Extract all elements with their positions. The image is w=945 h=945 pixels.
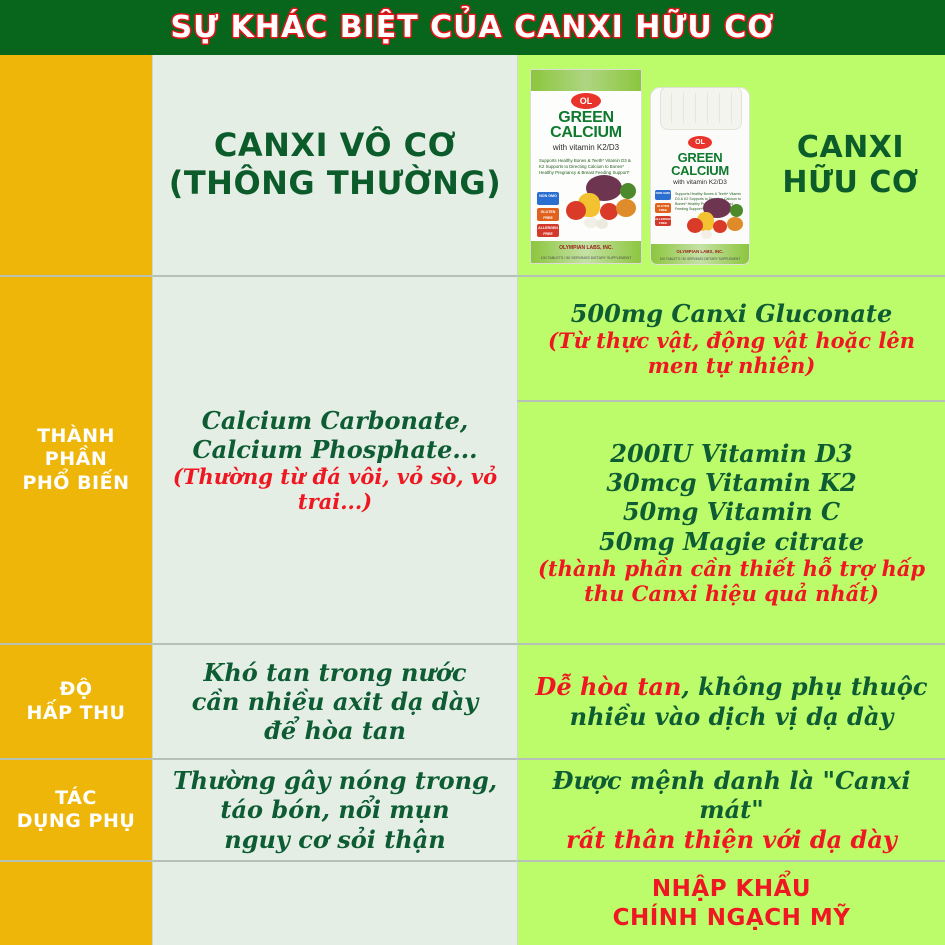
row-label-ingredients: THÀNH PHẦN PHỔ BIẾN: [0, 275, 152, 643]
cell-organic-vitamins-text: 200IU Vitamin D3 30mcg Vitamin K2 50mg V…: [518, 439, 945, 606]
product-photo: OL GREEN CALCIUM with vitamin K2/D3 Supp…: [518, 59, 756, 271]
inorganic-ingredient-line1: Calcium Carbonate,: [161, 406, 509, 435]
product-bottle: OL GREEN CALCIUM with vitamin K2/D3 Supp…: [650, 87, 750, 265]
inorganic-ingredient-note: (Thường từ đá vôi, vỏ sò, vỏ trai...): [161, 464, 509, 514]
row-label-ingredients-text: THÀNH PHẦN PHỔ BIẾN: [0, 425, 152, 495]
organic-side-effects-line2: rất thân thiện với dạ dày: [526, 825, 937, 854]
organic-vitamin-line4: 50mg Magie citrate: [526, 527, 937, 556]
bottle-vegetables-illustration: [685, 198, 747, 242]
comparison-table: CANXI VÔ CƠ (THÔNG THƯỜNG) OL GREEN CALC…: [0, 55, 945, 945]
cell-organic-absorption: Dễ hòa tan, không phụ thuộc nhiều vào dị…: [517, 643, 945, 758]
row-label-absorption: ĐỘ HẤP THU: [0, 643, 152, 758]
organic-side-effects-line1: Được mệnh danh là "Canxi mát": [526, 766, 937, 825]
header-organic-cell: OL GREEN CALCIUM with vitamin K2/D3 Supp…: [517, 55, 945, 275]
cell-organic-absorption-text: Dễ hòa tan, không phụ thuộc nhiều vào dị…: [518, 672, 945, 731]
import-badge-text: NHẬP KHẨU CHÍNH NGẠCH MỸ: [613, 875, 851, 933]
cell-organic-calcium: 500mg Canxi Gluconate (Từ thực vật, động…: [517, 275, 945, 400]
row-label-side-effects-text: TÁC DỤNG PHỤ: [13, 787, 140, 833]
inorganic-absorption-line3: để hòa tan: [192, 716, 478, 745]
box-badges: NON GMO GLUTEN FREE ALLERGEN FREE: [537, 192, 559, 240]
cell-inorganic-side-effects: Thường gây nóng trong, táo bón, nổi mụn …: [152, 758, 517, 860]
header-inorganic-line1: CANXI VÔ CƠ: [169, 127, 502, 165]
bottle-title-line2: CALCIUM: [651, 164, 749, 177]
box-title: GREEN CALCIUM: [531, 110, 641, 140]
cell-inorganic-absorption: Khó tan trong nước cần nhiều axit dạ dày…: [152, 643, 517, 758]
product-box: OL GREEN CALCIUM with vitamin K2/D3 Supp…: [530, 69, 642, 264]
row-label-side-effects-line1: TÁC: [17, 787, 136, 810]
bottle-subtitle: with vitamin K2/D3: [651, 179, 749, 186]
inorganic-side-effects-line2: táo bón, nổi mụn: [173, 795, 497, 824]
cell-inorganic-import: [152, 860, 517, 945]
box-subtitle: with vitamin K2/D3: [531, 143, 641, 152]
bottle-badge-gluten-free: GLUTEN FREE: [655, 203, 671, 213]
bottle-footer-count: 100 TABLETS / 50 SERVINGS DIETARY SUPPLE…: [651, 257, 749, 261]
bottle-cap: [660, 87, 742, 130]
header-organic-line1: CANXI: [764, 130, 937, 165]
bottle-foot-band: [651, 244, 749, 264]
cell-inorganic-side-effects-text: Thường gây nóng trong, táo bón, nổi mụn …: [165, 766, 505, 854]
bottle-footer-brand: OLYMPIAN LABS, INC.: [651, 249, 749, 254]
row-label-absorption-line1: ĐỘ: [27, 678, 126, 701]
row-label-side-effects: TÁC DỤNG PHỤ: [0, 758, 152, 860]
organic-calcium-note: (Từ thực vật, động vật hoặc lên men tự n…: [526, 328, 937, 378]
import-line1: NHẬP KHẨU: [613, 875, 851, 904]
infographic-root: SỰ KHÁC BIỆT CỦA CANXI HỮU CƠ CANXI VÔ C…: [0, 0, 945, 945]
row-label-ingredients-line1: THÀNH PHẦN: [4, 425, 148, 471]
organic-vitamin-note: (thành phần cần thiết hỗ trợ hấp thu Can…: [526, 556, 937, 606]
cell-organic-import: NHẬP KHẨU CHÍNH NGẠCH MỸ: [517, 860, 945, 945]
cell-organic-side-effects: Được mệnh danh là "Canxi mát" rất thân t…: [517, 758, 945, 860]
organic-vitamin-line2: 30mcg Vitamin K2: [526, 468, 937, 497]
header-organic-text: CANXI HỮU CƠ: [756, 130, 945, 201]
badge-non-gmo: NON GMO: [537, 192, 559, 205]
header-organic-line2: HỮU CƠ: [764, 165, 937, 200]
cell-organic-calcium-text: 500mg Canxi Gluconate (Từ thực vật, động…: [518, 299, 945, 379]
row-label-absorption-text: ĐỘ HẤP THU: [23, 678, 130, 724]
header-inorganic-text: CANXI VÔ CƠ (THÔNG THƯỜNG): [161, 127, 510, 203]
badge-gluten-free: GLUTEN FREE: [537, 208, 559, 221]
cell-inorganic-ingredients: Calcium Carbonate, Calcium Phosphate... …: [152, 275, 517, 643]
row-label-side-effects-line2: DỤNG PHỤ: [17, 810, 136, 833]
organic-vitamin-line3: 50mg Vitamin C: [526, 497, 937, 526]
inorganic-side-effects-line3: nguy cơ sỏi thận: [173, 825, 497, 854]
bottle-badges: NON GMO GLUTEN FREE ALLERGEN FREE: [655, 190, 671, 229]
page-title: SỰ KHÁC BIỆT CỦA CANXI HỮU CƠ: [171, 10, 775, 45]
cell-organic-side-effects-text: Được mệnh danh là "Canxi mát" rất thân t…: [518, 766, 945, 854]
organic-vitamin-line1: 200IU Vitamin D3: [526, 439, 937, 468]
row-label-absorption-line2: HẤP THU: [27, 702, 126, 725]
organic-absorption-highlight: Dễ hòa tan: [536, 672, 682, 701]
organic-calcium-main: 500mg Canxi Gluconate: [526, 299, 937, 328]
inorganic-absorption-line1: Khó tan trong nước: [192, 658, 478, 687]
header-inorganic-cell: CANXI VÔ CƠ (THÔNG THƯỜNG): [152, 55, 517, 275]
title-banner: SỰ KHÁC BIỆT CỦA CANXI HỮU CƠ: [0, 0, 945, 55]
box-top-band: [531, 70, 641, 91]
cell-inorganic-ingredients-text: Calcium Carbonate, Calcium Phosphate... …: [153, 406, 517, 515]
row-label-import: [0, 860, 152, 945]
inorganic-absorption-line2: cần nhiều axit dạ dày: [192, 687, 478, 716]
box-title-line2: CALCIUM: [531, 125, 641, 140]
header-label-cell: [0, 55, 152, 275]
box-claims: Supports Healthy Bones & Teeth* Vitamin …: [539, 158, 633, 176]
bottle-title: GREEN CALCIUM: [651, 151, 749, 177]
import-line2: CHÍNH NGẠCH MỸ: [613, 904, 851, 933]
bottle-badge-allergen-free: ALLERGEN FREE: [655, 216, 671, 226]
badge-allergen-free: ALLERGEN FREE: [537, 224, 559, 237]
header-inorganic-line2: (THÔNG THƯỜNG): [169, 165, 502, 203]
bottle-brand-logo-icon: OL: [688, 136, 712, 149]
row-label-ingredients-line2: PHỔ BIẾN: [4, 472, 148, 495]
inorganic-ingredient-line2: Calcium Phosphate...: [161, 435, 509, 464]
cell-organic-vitamins: 200IU Vitamin D3 30mcg Vitamin K2 50mg V…: [517, 400, 945, 643]
brand-logo-icon: OL: [571, 93, 601, 109]
box-title-line1: GREEN: [531, 110, 641, 125]
vegetables-illustration: [564, 175, 638, 235]
box-footer-brand: OLYMPIAN LABS, INC.: [531, 245, 641, 251]
inorganic-side-effects-line1: Thường gây nóng trong,: [173, 766, 497, 795]
bottle-badge-non-gmo: NON GMO: [655, 190, 671, 200]
cell-inorganic-absorption-text: Khó tan trong nước cần nhiều axit dạ dày…: [184, 658, 486, 746]
box-footer-count: 100 TABLETS / 50 SERVINGS DIETARY SUPPLE…: [531, 256, 641, 260]
